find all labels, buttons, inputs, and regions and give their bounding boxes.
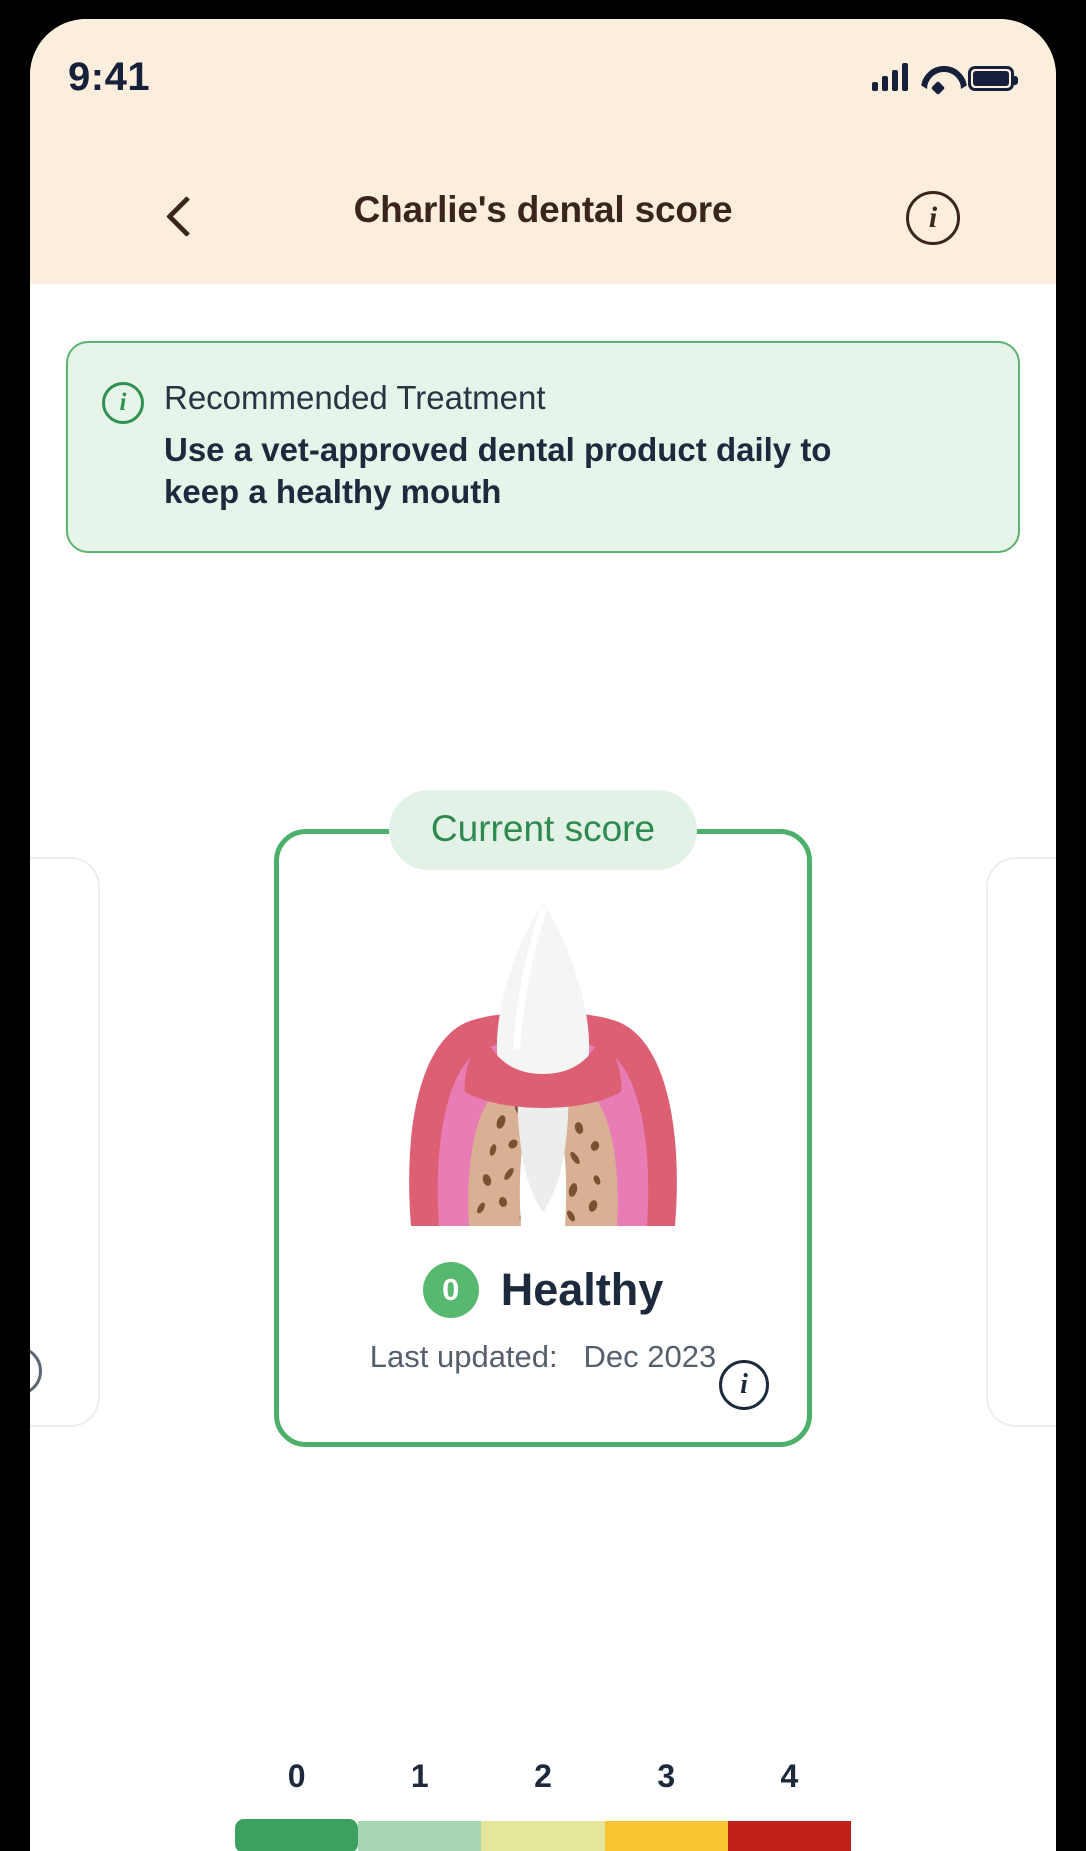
- scale-numbers: 0 1 2 3 4: [235, 1758, 851, 1795]
- scale-number: 2: [481, 1758, 604, 1795]
- status-bar: 9:41: [30, 19, 1056, 139]
- scale-number: 1: [358, 1758, 481, 1795]
- phone-screen: 9:41 Charlie's dental score i i Recommen…: [30, 19, 1056, 1851]
- score-carousel: i i Current score: [30, 785, 1056, 1425]
- scale-number: 3: [605, 1758, 728, 1795]
- banner-text: Use a vet-approved dental product daily …: [164, 429, 864, 513]
- info-circle-icon[interactable]: i: [30, 1346, 42, 1396]
- current-score-card[interactable]: Current score: [274, 829, 812, 1447]
- score-summary-row: 0 Healthy: [279, 1262, 807, 1318]
- navigation-bar: Charlie's dental score i: [30, 139, 1056, 284]
- last-updated-label: Last updated:: [370, 1339, 558, 1374]
- tooth-cross-section-illustration: [393, 896, 693, 1256]
- status-bar-icons: [872, 63, 1014, 91]
- scale-segment[interactable]: [605, 1821, 728, 1851]
- banner-body: Recommended Treatment Use a vet-approved…: [164, 379, 864, 513]
- next-score-card[interactable]: i: [986, 857, 1056, 1427]
- current-score-pill: Current score: [389, 790, 697, 870]
- score-status-label: Healthy: [501, 1264, 664, 1316]
- banner-title: Recommended Treatment: [164, 379, 864, 417]
- scale-segment[interactable]: [358, 1821, 481, 1851]
- info-circle-icon[interactable]: i: [719, 1360, 769, 1410]
- scale-segment[interactable]: [481, 1821, 604, 1851]
- scale-number: 0: [235, 1758, 358, 1795]
- header-area: 9:41 Charlie's dental score i: [30, 19, 1056, 284]
- signal-bars-icon: [872, 63, 908, 91]
- scale-segment[interactable]: [235, 1819, 358, 1851]
- scale-segment[interactable]: [728, 1821, 851, 1851]
- scale-number: 4: [728, 1758, 851, 1795]
- scale-color-bar[interactable]: [235, 1821, 851, 1851]
- page-title: Charlie's dental score: [30, 189, 1056, 231]
- wifi-icon: [921, 65, 955, 91]
- previous-score-card[interactable]: i: [30, 857, 100, 1427]
- score-value-badge: 0: [423, 1262, 479, 1318]
- recommended-treatment-banner: i Recommended Treatment Use a vet-approv…: [66, 341, 1020, 553]
- score-scale: 0 1 2 3 4: [235, 1758, 851, 1851]
- info-circle-icon: i: [102, 382, 144, 424]
- last-updated-value: Dec 2023: [584, 1339, 717, 1374]
- info-circle-icon[interactable]: i: [906, 191, 960, 245]
- status-bar-clock: 9:41: [68, 55, 150, 100]
- battery-icon: [968, 66, 1014, 91]
